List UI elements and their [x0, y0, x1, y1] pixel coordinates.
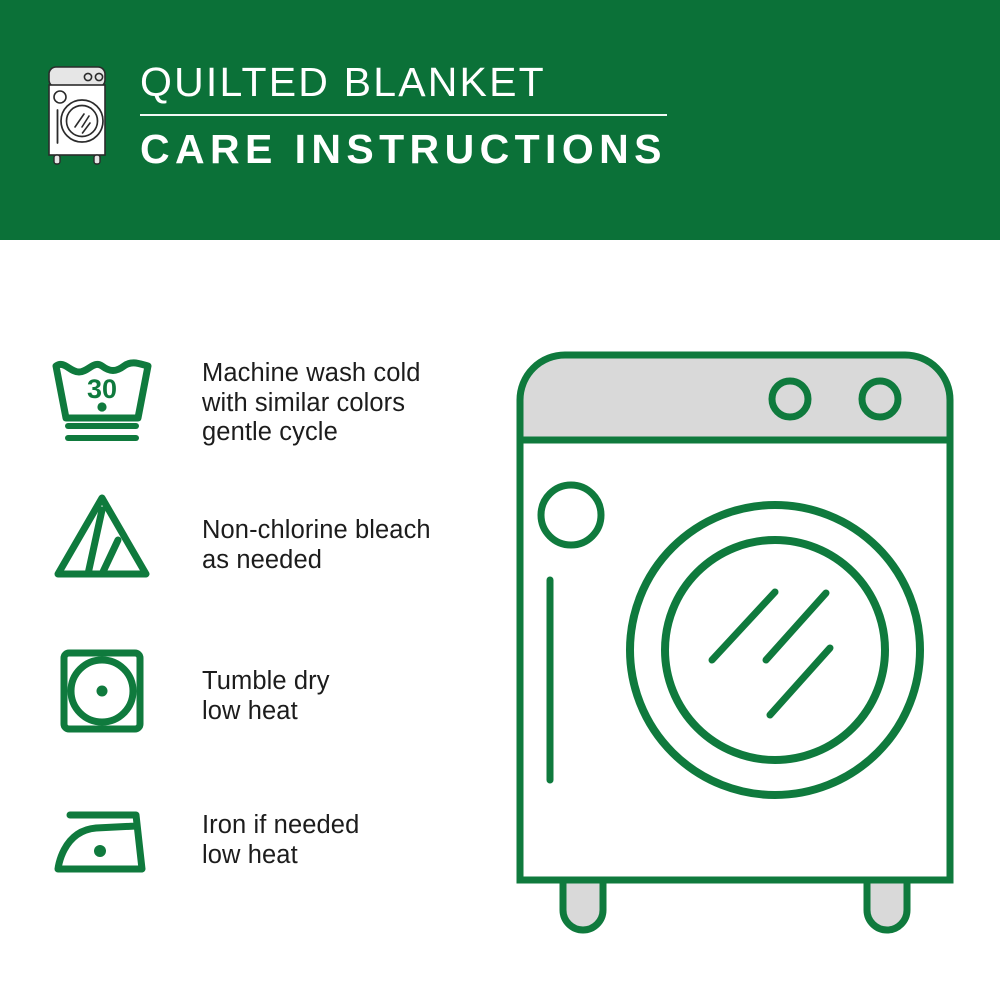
wash-temperature-value: 30 [87, 374, 117, 404]
care-symbol-wrapper: 30 [50, 352, 154, 444]
care-instruction-text: Iron if needed low heat [202, 811, 359, 870]
care-symbol-wrapper [50, 490, 154, 582]
care-instruction-text: Tumble dry low heat [202, 667, 330, 726]
care-symbol-wrapper [50, 795, 154, 887]
title-block: QUILTED BLANKET CARE INSTRUCTIONS [140, 57, 667, 173]
page-header: QUILTED BLANKET CARE INSTRUCTIONS [0, 0, 1000, 240]
care-instruction-list: 30 Machine wash cold with similar colors… [0, 240, 480, 1000]
front-load-washing-machine-illustration [490, 330, 980, 940]
care-instruction-item: Tumble dry low heat [50, 645, 330, 737]
header-inner: QUILTED BLANKET CARE INSTRUCTIONS [44, 57, 667, 173]
washing-machine-icon [44, 63, 118, 167]
iron-low-heat-icon [50, 795, 154, 887]
leg-left [563, 880, 603, 930]
care-instruction-item: Non-chlorine bleach as needed [50, 490, 431, 582]
page-title-secondary: CARE INSTRUCTIONS [140, 125, 667, 173]
care-instruction-text: Machine wash cold with similar colors ge… [202, 359, 421, 448]
care-instruction-text: Non-chlorine bleach as needed [202, 516, 431, 575]
page-title-primary: QUILTED BLANKET [140, 57, 667, 107]
control-panel [520, 355, 950, 440]
tumble-dry-low-heat-icon [50, 645, 154, 737]
non-chlorine-bleach-triangle-icon [50, 490, 154, 582]
wash-tub-30-gentle-icon: 30 [50, 352, 154, 444]
title-divider [140, 114, 667, 116]
leg-right [867, 880, 907, 930]
care-instructions-page: QUILTED BLANKET CARE INSTRUCTIONS 30 Mac… [0, 0, 1000, 1000]
care-instruction-item: 30 Machine wash cold with similar colors… [50, 352, 421, 448]
care-symbol-wrapper [50, 645, 154, 737]
care-instruction-item: Iron if needed low heat [50, 795, 359, 887]
